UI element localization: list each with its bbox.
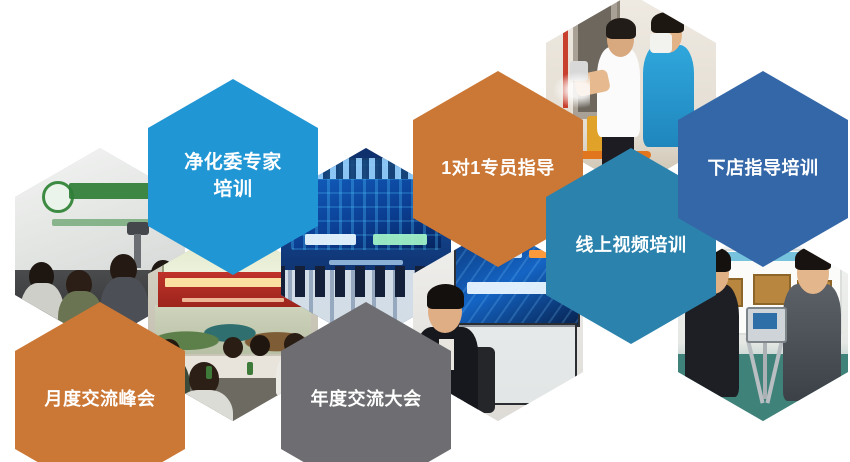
client-hair [795, 247, 831, 271]
hex-label-one-on-one: 1对1专员指导 [431, 156, 565, 182]
hex-label-monthly-summit: 月度交流峰会 [35, 387, 166, 413]
spray-mist [553, 72, 590, 107]
tripod-leg [763, 337, 767, 400]
water-bottle [247, 362, 253, 375]
hex-label-online-video-training: 线上视频培训 [566, 233, 697, 259]
banner-subtitle-text [182, 298, 284, 302]
stage-subtitle-text [329, 260, 404, 265]
hex-label-store-guidance-training: 下店指导培训 [698, 156, 829, 182]
water-bottle [206, 366, 212, 379]
presenter-hair [427, 284, 464, 309]
face-mask [650, 33, 672, 53]
hexagon-infographic: 净化委专家 培训 1对1专员指导 线上视频培训 下店指导培训 月度交流峰会 年度… [0, 0, 850, 462]
trainee-hair [651, 12, 683, 34]
stage-slogan-left-text [305, 234, 356, 245]
stage-slogan-right-text [373, 234, 427, 245]
hex-label-jinghuawei-training: 净化委专家 培训 [174, 150, 292, 204]
hex-label-annual-conference: 年度交流大会 [301, 387, 432, 413]
instrument-display [753, 313, 777, 329]
demonstrator-shirt [597, 47, 640, 137]
demonstrator-hair [606, 18, 637, 40]
client-jacket [783, 284, 841, 402]
